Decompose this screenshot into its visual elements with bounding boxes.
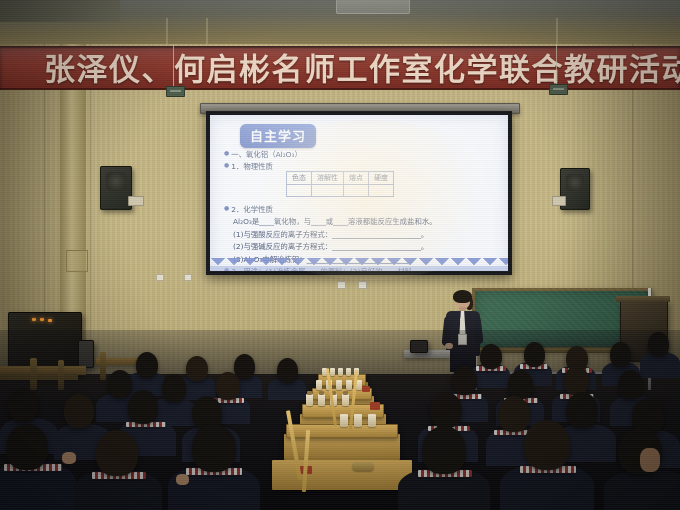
presentation-slide: 自主学习 ●一、氧化铝（Al₂O₃） ●1．物理性质 ●2．化学性质 Al₂O₃… — [210, 115, 508, 271]
student-head — [277, 358, 298, 383]
projection-screen: 自主学习 ●一、氧化铝（Al₂O₃） ●1．物理性质 ●2．化学性质 Al₂O₃… — [206, 111, 512, 275]
student-head — [96, 430, 138, 476]
slide-line: Al₂O₃是____氧化物，与____或____溶液都能反应生成盐和水。 — [224, 216, 500, 227]
student-head — [498, 396, 530, 432]
student-head — [234, 354, 255, 379]
student-head — [108, 370, 132, 398]
cabinet-top — [616, 296, 670, 302]
wire-junction-box — [166, 86, 185, 97]
properties-table: 色态 溶解性 熔点 硬度 — [286, 171, 394, 197]
student-head — [192, 424, 236, 472]
student-head — [64, 394, 94, 428]
event-banner: 张泽仪、何启彬名师工作室化学联合教研活动 — [0, 46, 680, 90]
red-stopper — [370, 402, 380, 410]
reagent-bottle — [346, 368, 351, 376]
slide-line: (2)与强碱反应的离子方程式：________________________。 — [224, 241, 500, 252]
bottle-cap — [307, 391, 312, 395]
wall-outlet — [156, 274, 164, 281]
hanging-wire — [556, 44, 557, 88]
ceiling-rail — [556, 18, 558, 46]
table-header-cell: 硬度 — [369, 172, 394, 185]
wall-seam — [90, 44, 93, 374]
student-head — [452, 366, 477, 395]
status-led — [48, 319, 52, 322]
reagent-bottle — [330, 368, 335, 376]
reagent-bottle — [342, 394, 349, 406]
hanging-wire — [173, 44, 174, 90]
student-head — [162, 374, 186, 402]
student-head — [216, 372, 240, 400]
wall-access-panel — [66, 250, 88, 272]
ceiling-beam — [0, 0, 120, 22]
bullet-icon: ● — [224, 150, 229, 157]
ceiling-light-fixture — [336, 0, 410, 14]
ceiling-rail — [206, 18, 208, 46]
student-hand — [176, 474, 189, 485]
teacher-hair — [453, 290, 472, 303]
table-row — [287, 185, 394, 197]
slide-line: (1)与强酸反应的离子方程式：________________________。 — [224, 229, 500, 240]
student-head — [480, 344, 502, 369]
bottle-cap — [343, 391, 348, 395]
ceiling — [0, 0, 680, 46]
table-cell — [287, 185, 312, 197]
reagent-bottle — [306, 394, 313, 406]
student-head — [186, 356, 208, 381]
student-head — [8, 388, 38, 422]
wall-switch[interactable] — [337, 281, 346, 289]
reagent-bottle — [354, 414, 362, 427]
status-led — [32, 318, 36, 321]
banner-text: 张泽仪、何启彬名师工作室化学联合教研活动 — [44, 46, 680, 90]
student-head — [648, 332, 669, 356]
student-shoulders — [604, 470, 680, 510]
student-head — [618, 370, 643, 399]
reagent-bottle — [316, 380, 322, 390]
table-header-cell: 溶解性 — [312, 172, 344, 185]
bench-tier-foreground — [272, 460, 412, 490]
student-head — [610, 342, 631, 367]
student-head — [566, 392, 598, 428]
student-face — [640, 448, 660, 472]
student-head — [136, 352, 158, 378]
reagent-bottle — [336, 380, 342, 390]
student-head — [564, 366, 589, 395]
lab-dish — [352, 462, 374, 471]
student-hand — [62, 452, 76, 464]
table-header-row: 色态 溶解性 熔点 硬度 — [287, 172, 394, 185]
wire-junction-box — [549, 84, 568, 95]
student-head — [508, 370, 533, 399]
red-stopper — [362, 386, 370, 392]
student-head — [6, 424, 48, 470]
slide-line: ●2．化学性质 — [224, 204, 500, 215]
bullet-icon: ● — [224, 205, 229, 212]
reagent-bottle — [338, 368, 343, 376]
student-head — [524, 420, 570, 470]
table-header-cell: 熔点 — [344, 172, 369, 185]
table-cell — [344, 185, 369, 197]
student-head — [524, 342, 545, 367]
slide-body: ●一、氧化铝（Al₂O₃） ●1．物理性质 ●2．化学性质 Al₂O₃是____… — [224, 149, 500, 271]
bullet-icon: ● — [224, 162, 229, 169]
reagent-bottle — [318, 394, 325, 406]
wall-switch[interactable] — [358, 281, 367, 289]
table-cell — [369, 185, 394, 197]
wall-outlet — [184, 274, 192, 281]
student-head — [422, 426, 466, 474]
speaker-mount-left — [128, 196, 144, 206]
table-cell — [312, 185, 344, 197]
reagent-bottle — [340, 414, 348, 427]
bottle-cap — [319, 391, 324, 395]
slide-zigzag-border — [210, 258, 508, 271]
speaker-mount-right — [552, 196, 566, 206]
classroom-photo: 张泽仪、何启彬名师工作室化学联合教研活动 自主学习 ●一、氧化铝（Al₂O₃） … — [0, 0, 680, 510]
student-head — [128, 390, 158, 424]
reagent-bottle — [368, 414, 376, 427]
reagent-bottle — [346, 380, 352, 390]
slide-title: 自主学习 — [240, 124, 316, 148]
student-head — [430, 392, 462, 428]
table-header-cell: 色态 — [287, 172, 312, 185]
status-led — [40, 318, 44, 321]
slide-line: ●一、氧化铝（Al₂O₃） — [224, 149, 500, 160]
ceiling-rail — [166, 18, 168, 46]
